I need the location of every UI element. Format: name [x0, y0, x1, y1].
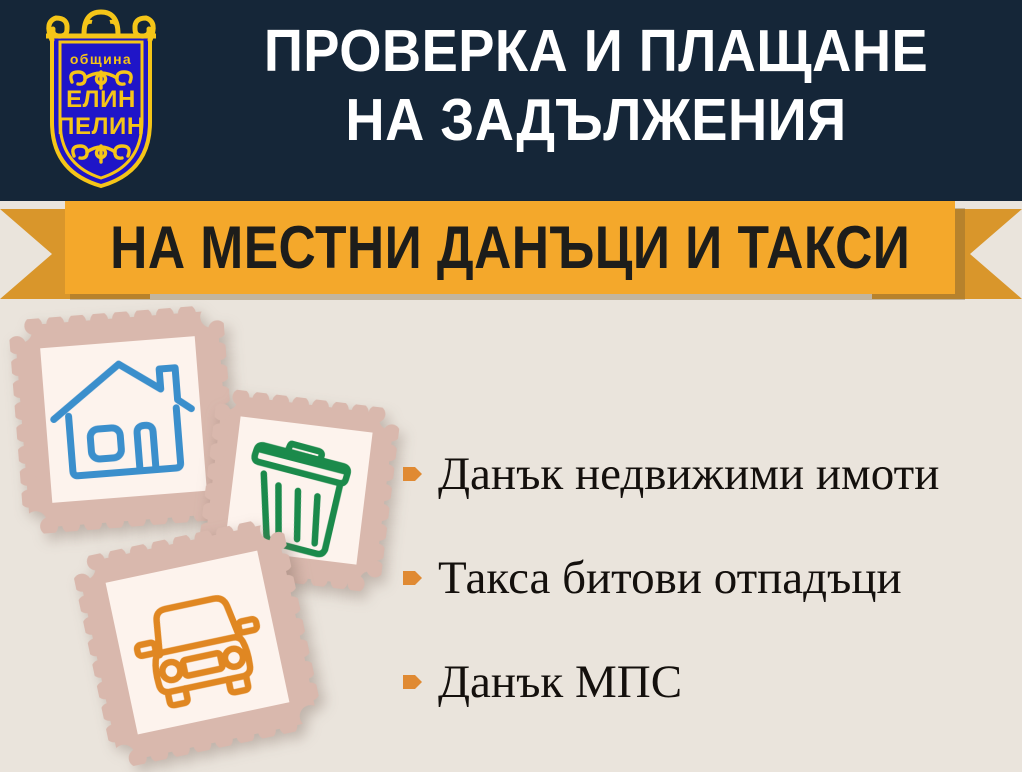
header-bar: община ЕЛИН ПЕЛИН [0, 0, 1022, 201]
emblem-top-text: община [70, 51, 132, 67]
municipality-emblem: община ЕЛИН ПЕЛИН [22, 6, 180, 192]
service-label: Данък недвижими имоти [438, 448, 939, 500]
title-line-1: ПРОВЕРКА И ПЛАЩАНЕ [219, 17, 973, 86]
service-label: Такса битови отпадъци [438, 552, 902, 604]
list-item[interactable]: Такса битови отпадъци [400, 526, 1010, 630]
title-line-2: НА ЗАДЪЛЖЕНИЯ [219, 86, 973, 155]
emblem-name-line2: ПЕЛИН [57, 113, 145, 140]
ribbon-text: НА МЕСТНИ ДАНЪЦИ И ТАКСИ [110, 218, 910, 278]
poster-title: ПРОВЕРКА И ПЛАЩАНЕ НА ЗАДЪЛЖЕНИЯ [186, 17, 1006, 155]
list-item[interactable]: Данък недвижими имоти [400, 422, 1010, 526]
poster: община ЕЛИН ПЕЛИН [0, 0, 1022, 772]
subtitle-ribbon: НА МЕСТНИ ДАНЪЦИ И ТАКСИ [0, 198, 1022, 310]
emblem-name-line1: ЕЛИН [66, 86, 136, 113]
arrow-bullet-icon [400, 462, 424, 486]
arrow-bullet-icon [400, 566, 424, 590]
service-label: Данък МПС [438, 656, 682, 708]
arrow-bullet-icon [400, 670, 424, 694]
list-item[interactable]: Данък МПС [400, 630, 1010, 734]
ribbon-banner: НА МЕСТНИ ДАНЪЦИ И ТАКСИ [65, 201, 955, 294]
stamp-vehicle [70, 515, 325, 770]
services-list: Данък недвижими имоти Такса битови отпад… [400, 422, 1010, 734]
